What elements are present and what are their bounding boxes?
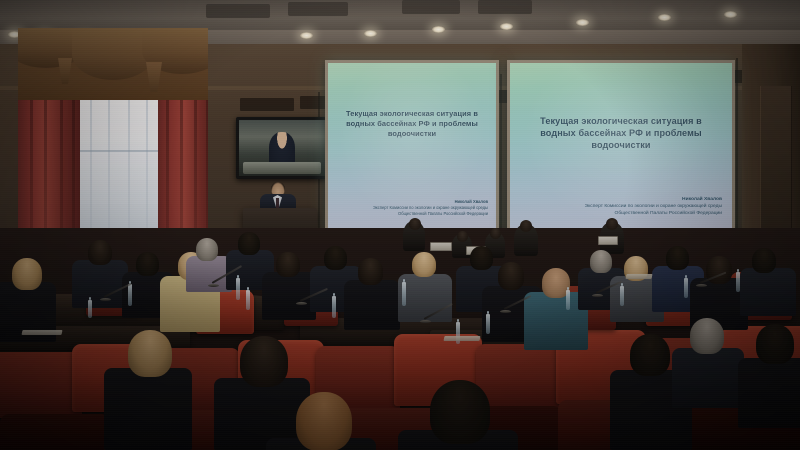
paper-sheet xyxy=(625,274,652,279)
water-bottle xyxy=(128,284,132,306)
microphone-base xyxy=(296,302,307,305)
audience-member-head xyxy=(666,246,689,270)
presenter-tie xyxy=(276,198,279,208)
microphone-base xyxy=(420,320,431,323)
water-bottle xyxy=(402,282,406,306)
audience-member-torso xyxy=(672,348,744,408)
audience-member-head xyxy=(324,246,347,270)
ceiling-panel xyxy=(288,2,348,16)
water-bottle xyxy=(566,290,570,310)
presidium-member-head xyxy=(520,220,532,232)
audience-member-head xyxy=(358,258,383,285)
audience-member-head xyxy=(590,250,612,273)
right-projection-screen: Текущая экологическая ситуация в водных … xyxy=(507,60,735,238)
slide-title-right: Текущая экологическая ситуация в водных … xyxy=(510,115,732,151)
audience-member-torso xyxy=(104,368,192,450)
side-door[interactable] xyxy=(760,86,792,236)
name-placard xyxy=(598,236,618,245)
audience-member-torso xyxy=(738,358,800,428)
theater-seat[interactable] xyxy=(0,352,82,418)
microphone-base xyxy=(592,294,603,297)
ceiling-spotlight xyxy=(300,32,313,39)
theater-seat[interactable] xyxy=(0,414,110,450)
audience-member-head xyxy=(88,240,112,265)
monitor-video-feed xyxy=(239,120,325,176)
audience-member-torso xyxy=(344,280,400,330)
presidium-member-head xyxy=(409,218,421,230)
microphone-base xyxy=(208,284,219,287)
wall-vent-grille xyxy=(240,98,294,111)
microphone-base xyxy=(500,310,511,313)
audience-member-head xyxy=(196,238,218,261)
wall-monitor xyxy=(236,117,328,179)
audience-member-head xyxy=(276,252,300,277)
water-bottle xyxy=(246,290,250,310)
presidium-member-head xyxy=(606,218,618,230)
presidium-member-head xyxy=(457,231,468,242)
water-bottle xyxy=(620,286,624,306)
slide-left: Текущая экологическая ситуация в водных … xyxy=(328,63,496,233)
audience-member-head xyxy=(128,330,172,377)
audience-member-head xyxy=(430,380,490,444)
audience-member-head xyxy=(690,318,724,354)
audience-member-head xyxy=(136,252,159,276)
conference-hall-photo: Текущая экологическая ситуация в водных … xyxy=(0,0,800,450)
water-bottle xyxy=(486,314,490,334)
water-bottle xyxy=(736,272,740,292)
name-placard xyxy=(430,242,452,251)
slide-author-role2-left: Общественной Палаты Российской Федерации xyxy=(328,211,488,217)
audience-member-head xyxy=(12,258,42,290)
left-projection-screen: Текущая экологическая ситуация в водных … xyxy=(325,60,499,236)
slide-author-role1-right: Эксперт Комиссии по экологии и охране ок… xyxy=(510,203,722,210)
ceiling-panel xyxy=(402,0,460,14)
audience-member-torso xyxy=(398,274,452,322)
monitor-speaker-figure xyxy=(269,132,295,166)
microphone-base xyxy=(696,284,707,287)
ceiling-panel xyxy=(478,0,532,14)
wall-seam xyxy=(736,58,738,244)
audience-member-head xyxy=(412,252,436,277)
ceiling-spotlight xyxy=(364,30,377,37)
paper-sheet xyxy=(443,336,480,341)
ceiling-panel xyxy=(206,4,270,18)
audience-member-head xyxy=(470,246,493,270)
ceiling-spotlight xyxy=(724,11,737,18)
ceiling-spotlight xyxy=(658,14,671,21)
water-bottle xyxy=(684,278,688,298)
paper-sheet xyxy=(21,330,62,335)
slide-title-left: Текущая экологическая ситуация в водных … xyxy=(328,109,496,138)
audience-member-head xyxy=(296,392,352,450)
monitor-desk xyxy=(243,162,321,174)
ceiling-spotlight xyxy=(576,19,589,26)
audience-member-head xyxy=(630,334,670,376)
water-bottle xyxy=(88,300,92,318)
microphone-base xyxy=(100,298,111,301)
audience-member-head xyxy=(756,324,794,364)
audience-member-torso xyxy=(740,268,796,316)
ceiling-spotlight xyxy=(500,23,513,30)
water-bottle xyxy=(332,296,336,318)
slide-author-name-right: Николай Хвалов xyxy=(510,196,722,203)
presidium-member-head xyxy=(490,228,501,239)
audience-member-head xyxy=(752,248,776,273)
slide-right: Текущая экологическая ситуация в водных … xyxy=(510,63,732,235)
audience-member-head xyxy=(240,336,288,387)
audience-member-head xyxy=(238,232,260,255)
wall-seam xyxy=(500,74,502,242)
ceiling-spotlight xyxy=(432,26,445,33)
audience-member-torso xyxy=(72,260,128,308)
slide-author-role2-right: Общественной Палаты Российской Федерации xyxy=(510,210,722,217)
water-bottle xyxy=(236,278,240,300)
audience-member-head xyxy=(498,262,524,290)
